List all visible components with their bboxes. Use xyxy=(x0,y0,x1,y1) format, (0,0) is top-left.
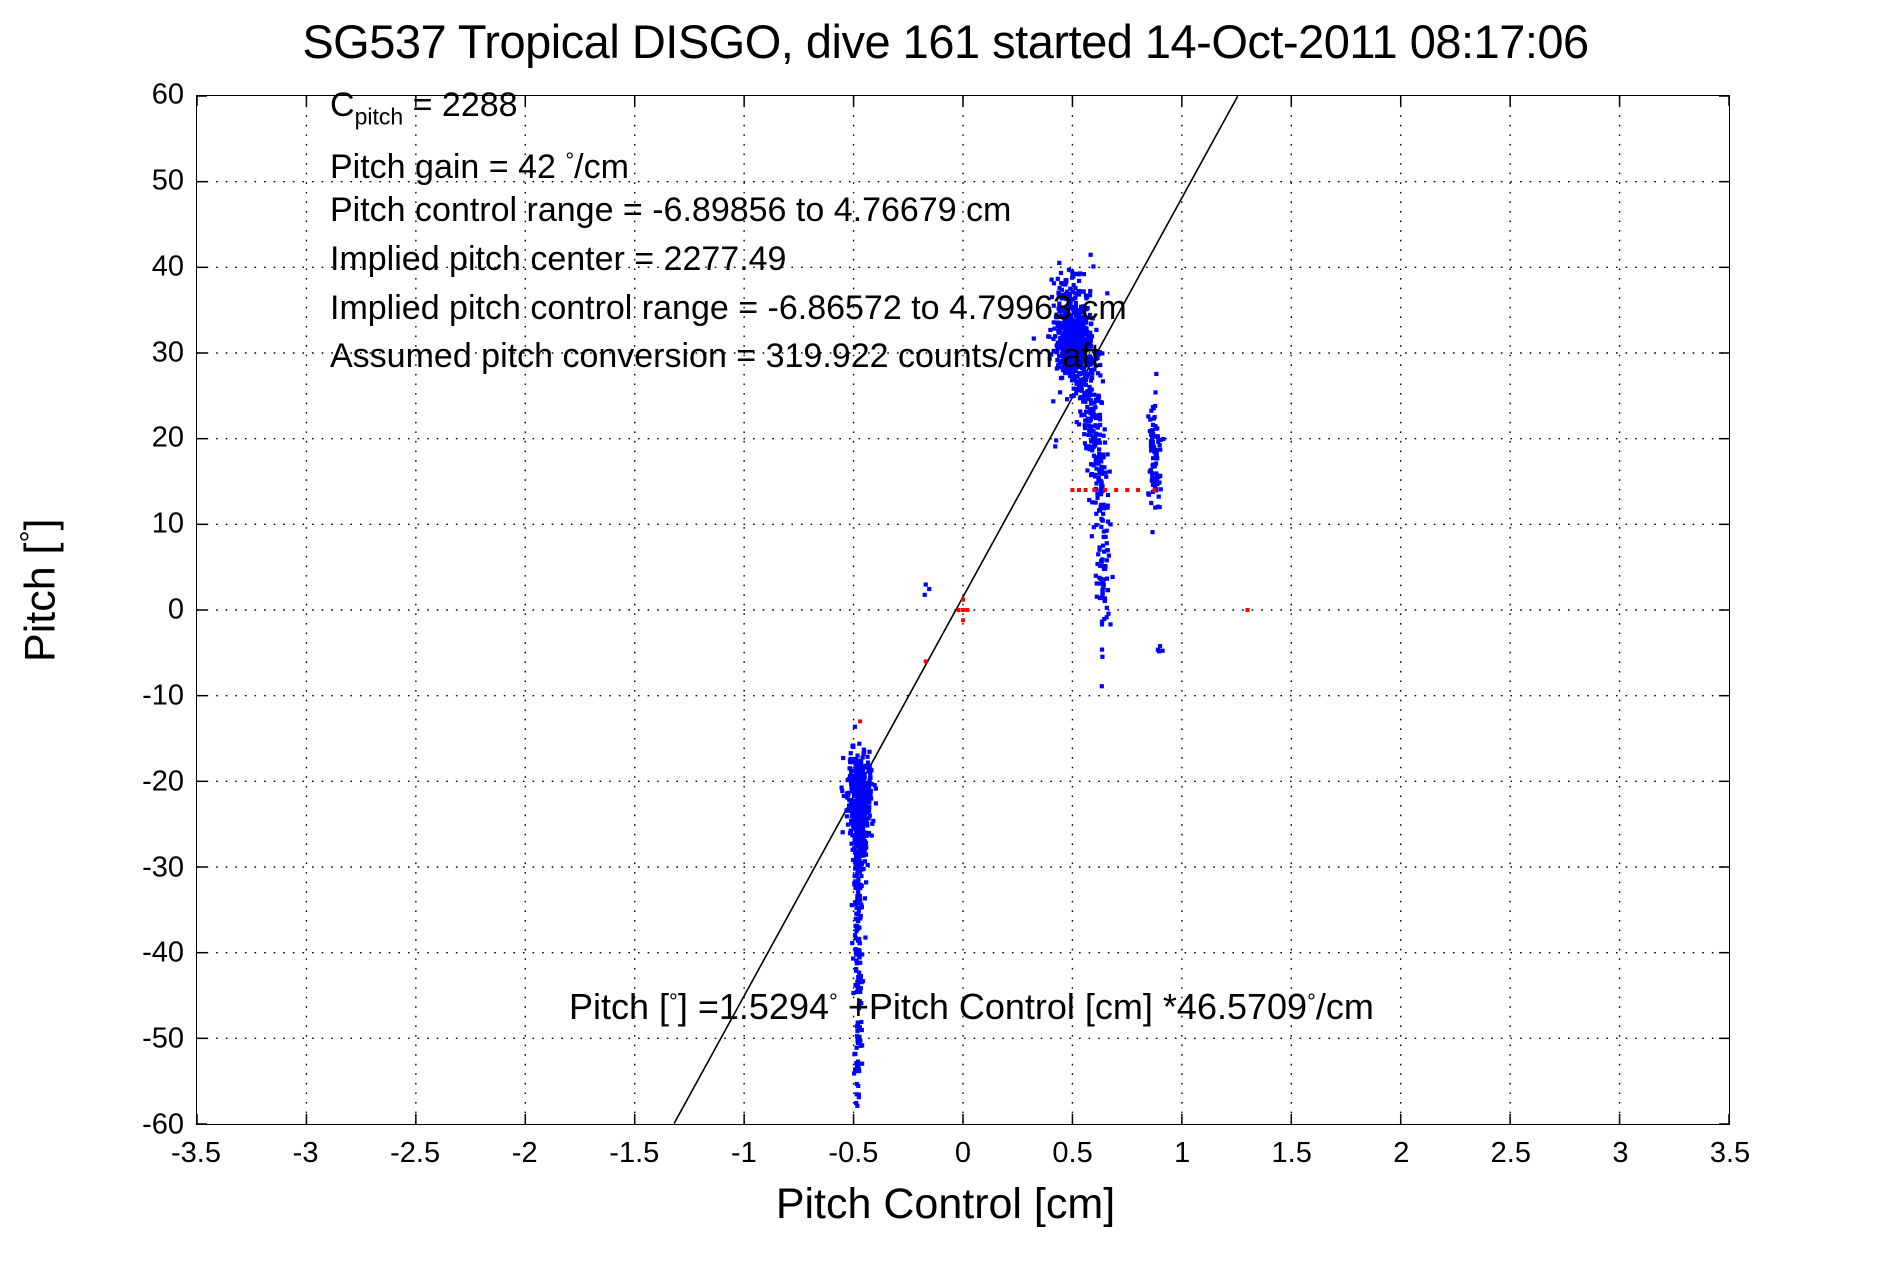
y-tick-label: 20 xyxy=(114,424,184,453)
annotation-c-pitch: Cpitch = 2288 xyxy=(330,88,518,134)
degree-symbol-ylabel: ° xyxy=(15,530,48,542)
x-tick-label: 0.5 xyxy=(1028,1139,1118,1168)
annotation-pitch-gain: Pitch gain = 42 °/cm xyxy=(330,144,629,184)
degree-symbol: ° xyxy=(565,148,574,173)
x-tick-label: 0 xyxy=(918,1139,1008,1168)
y-tick-label: -60 xyxy=(114,1111,184,1140)
degree-symbol-eq3: ° xyxy=(1307,989,1316,1014)
equation-part-b: ] =1.5294 xyxy=(678,986,829,1027)
plot-axes: Cpitch = 2288 Pitch gain = 42 °/cm Pitch… xyxy=(196,95,1730,1125)
y-tick-label: 30 xyxy=(114,338,184,367)
annotation-pitch-control-range: Pitch control range = -6.89856 to 4.7667… xyxy=(330,193,1011,227)
x-tick-label: 1 xyxy=(1137,1139,1227,1168)
x-tick-label: 3 xyxy=(1575,1139,1665,1168)
y-tick-label: -30 xyxy=(114,853,184,882)
y-tick-label: -10 xyxy=(114,681,184,710)
degree-symbol-eq1: ° xyxy=(669,989,678,1014)
x-tick-label: -2 xyxy=(480,1139,570,1168)
degree-symbol-eq2: ° xyxy=(829,989,838,1014)
y-tick-label: 50 xyxy=(114,166,184,195)
c-pitch-value: = 2288 xyxy=(403,86,517,124)
x-tick-label: 2 xyxy=(1356,1139,1446,1168)
x-tick-label: -1 xyxy=(699,1139,789,1168)
y-tick-label: -40 xyxy=(114,939,184,968)
x-tick-label: -3.5 xyxy=(151,1139,241,1168)
x-tick-label: 1.5 xyxy=(1247,1139,1337,1168)
y-tick-label: 60 xyxy=(114,81,184,110)
equation-part-c: +Pitch Control [cm] *46.5709 xyxy=(838,986,1307,1027)
y-tick-label: -50 xyxy=(114,1025,184,1054)
annotation-implied-pitch-center: Implied pitch center = 2277.49 xyxy=(330,242,786,276)
x-tick-label: -2.5 xyxy=(370,1139,460,1168)
equation-part-d: /cm xyxy=(1316,986,1374,1027)
x-tick-label: -1.5 xyxy=(589,1139,679,1168)
y-tick-label: -20 xyxy=(114,767,184,796)
annotation-assumed-conversion: Assumed pitch conversion = 319.922 count… xyxy=(330,339,1100,373)
equation-part-a: Pitch [ xyxy=(569,986,669,1027)
c-pitch-symbol: C xyxy=(330,86,355,124)
y-tick-label: 0 xyxy=(114,596,184,625)
c-pitch-subscript: pitch xyxy=(355,104,404,130)
y-axis-label: Pitch [°] xyxy=(15,290,66,890)
y-tick-label: 40 xyxy=(114,252,184,281)
x-tick-label: -0.5 xyxy=(808,1139,898,1168)
annotation-fit-equation: Pitch [°] =1.5294° +Pitch Control [cm] *… xyxy=(569,986,1374,1028)
pitch-gain-text: Pitch gain = 42 xyxy=(330,148,565,186)
annotation-layer: Cpitch = 2288 Pitch gain = 42 °/cm Pitch… xyxy=(197,96,1729,1124)
x-tick-label: -3 xyxy=(261,1139,351,1168)
x-tick-label: 2.5 xyxy=(1466,1139,1556,1168)
x-tick-label: 3.5 xyxy=(1685,1139,1775,1168)
chart-title: SG537 Tropical DISGO, dive 161 started 1… xyxy=(0,14,1891,69)
y-tick-label: 10 xyxy=(114,510,184,539)
figure-root: SG537 Tropical DISGO, dive 161 started 1… xyxy=(0,0,1891,1262)
annotation-implied-control-range: Implied pitch control range = -6.86572 t… xyxy=(330,291,1127,325)
pitch-gain-unit: /cm xyxy=(574,148,629,186)
x-axis-label: Pitch Control [cm] xyxy=(0,1180,1891,1229)
